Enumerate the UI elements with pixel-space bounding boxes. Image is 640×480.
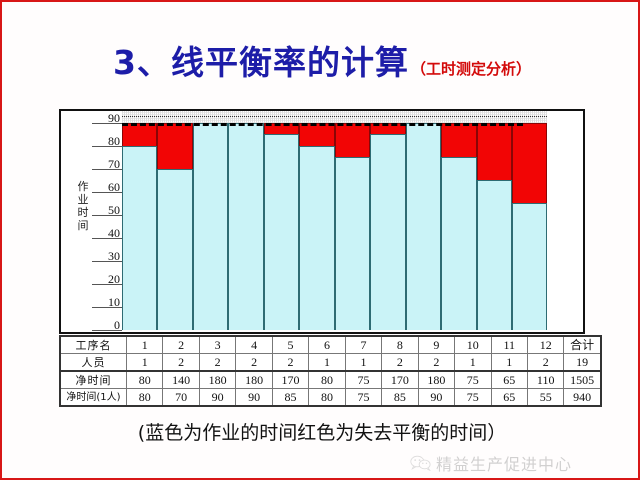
table-cell-r2-c11: 110 — [527, 371, 563, 389]
y-tick-label-60: 60 — [108, 181, 120, 193]
bar-stack-8[interactable] — [370, 123, 405, 330]
table-cell-r1-c2: 2 — [199, 354, 235, 372]
table-cell-r1-c12: 19 — [564, 354, 601, 372]
bar-segment-worktime-6[interactable] — [299, 146, 334, 330]
bar-column-12[interactable] — [512, 111, 547, 330]
page-title-subtitle: （工时测定分析） — [411, 60, 531, 78]
y-tick-70: 70 — [92, 169, 122, 171]
table-row-1: 人员12222112211219 — [60, 354, 601, 372]
table-cell-r3-c6: 75 — [345, 389, 381, 407]
bar-column-合计[interactable] — [547, 111, 582, 330]
bar-segment-imbalance-10[interactable] — [441, 123, 476, 158]
bar-column-6[interactable] — [299, 111, 334, 330]
takt-dashed-reference-line — [122, 123, 523, 126]
y-tick-label-40: 40 — [108, 227, 120, 239]
y-tick-label-70: 70 — [108, 158, 120, 170]
table-cell-r1-c7: 2 — [382, 354, 418, 372]
table-row-header-2: 净时间 — [60, 371, 127, 389]
bar-segment-worktime-4[interactable] — [228, 123, 263, 330]
table-cell-r2-c7: 170 — [382, 371, 418, 389]
table-cell-r1-c4: 2 — [272, 354, 308, 372]
table-cell-r1-c6: 1 — [345, 354, 381, 372]
table-cell-r1-c1: 2 — [163, 354, 199, 372]
table-cell-r0-c11: 12 — [527, 336, 563, 354]
bar-column-4[interactable] — [228, 111, 263, 330]
bar-segment-worktime-9[interactable] — [406, 123, 441, 330]
chart-legend-caption: (蓝色为作业的时间红色为失去平衡的时间） — [2, 418, 640, 445]
bar-segment-worktime-2[interactable] — [157, 169, 192, 330]
bar-stack-6[interactable] — [299, 123, 334, 330]
watermark-text: 精益生产促进中心 — [436, 451, 572, 475]
table-cell-r2-c0: 80 — [127, 371, 163, 389]
bar-segment-imbalance-11[interactable] — [477, 123, 512, 181]
table-cell-r2-c3: 180 — [236, 371, 272, 389]
table-cell-r2-c12: 1505 — [564, 371, 601, 389]
table-cell-r0-c12: 合计 — [564, 336, 601, 354]
bar-column-1[interactable] — [122, 111, 157, 330]
bar-column-11[interactable] — [477, 111, 512, 330]
y-axis-caption-char-0: 作 — [76, 180, 90, 193]
y-tick-90: 90 — [92, 123, 122, 125]
table-cell-r3-c2: 90 — [199, 389, 235, 407]
table-cell-r3-c5: 80 — [309, 389, 345, 407]
table-row-2: 净时间80140180180170807517018075651101505 — [60, 371, 601, 389]
process-time-table: 工序名123456789101112合计人员12222112211219净时间8… — [59, 335, 602, 407]
table-cell-r1-c3: 2 — [236, 354, 272, 372]
table-row-3: 净时间(1人)807090908580758590756555940 — [60, 389, 601, 407]
table-cell-r0-c10: 11 — [491, 336, 527, 354]
table-cell-r3-c4: 85 — [272, 389, 308, 407]
table-cell-r0-c6: 7 — [345, 336, 381, 354]
bar-segment-imbalance-1[interactable] — [122, 123, 157, 146]
y-tick-label-20: 20 — [108, 273, 120, 285]
table-cell-r2-c2: 180 — [199, 371, 235, 389]
table-row-header-3: 净时间(1人) — [60, 389, 127, 407]
table-cell-r2-c1: 140 — [163, 371, 199, 389]
y-tick-label-30: 30 — [108, 250, 120, 262]
table-cell-r0-c7: 8 — [382, 336, 418, 354]
bar-stack-2[interactable] — [157, 123, 192, 330]
table-row-header-0: 工序名 — [60, 336, 127, 354]
bar-column-3[interactable] — [193, 111, 228, 330]
bar-stack-5[interactable] — [264, 123, 299, 330]
table-cell-r3-c9: 75 — [455, 389, 491, 407]
y-tick-10: 10 — [92, 307, 122, 309]
bar-segment-imbalance-12[interactable] — [512, 123, 547, 204]
y-tick-80: 80 — [92, 146, 122, 148]
y-axis-caption-char-1: 业 — [76, 193, 90, 206]
table-cell-r3-c3: 90 — [236, 389, 272, 407]
y-tick-0: 0 — [92, 330, 122, 332]
bar-segment-imbalance-2[interactable] — [157, 123, 192, 169]
bar-segment-worktime-5[interactable] — [264, 134, 299, 330]
table-cell-r0-c8: 9 — [418, 336, 454, 354]
y-tick-label-10: 10 — [108, 296, 120, 308]
table-cell-r2-c8: 180 — [418, 371, 454, 389]
y-axis-caption-char-3: 间 — [76, 219, 90, 232]
table-cell-r2-c4: 170 — [272, 371, 308, 389]
table-cell-r3-c12: 940 — [564, 389, 601, 407]
y-axis-ticks: 9080706050403020100 — [92, 109, 122, 330]
bar-column-10[interactable] — [441, 111, 476, 330]
bar-segment-worktime-11[interactable] — [477, 180, 512, 330]
bar-column-9[interactable] — [406, 111, 441, 330]
wechat-icon — [410, 455, 432, 471]
table-cell-r2-c6: 75 — [345, 371, 381, 389]
table-cell-r1-c10: 1 — [491, 354, 527, 372]
bar-series-container — [122, 111, 583, 330]
bar-stack-10[interactable] — [441, 123, 476, 330]
table-row-header-1: 人员 — [60, 354, 127, 372]
table-cell-r2-c9: 75 — [455, 371, 491, 389]
table-cell-r3-c10: 65 — [491, 389, 527, 407]
table-cell-r0-c1: 2 — [163, 336, 199, 354]
table-cell-r0-c5: 6 — [309, 336, 345, 354]
table-row-0: 工序名123456789101112合计 — [60, 336, 601, 354]
bar-segment-imbalance-7[interactable] — [335, 123, 370, 158]
y-tick-40: 40 — [92, 238, 122, 240]
bar-stack-7[interactable] — [335, 123, 370, 330]
bar-segment-worktime-8[interactable] — [370, 134, 405, 330]
y-tick-label-80: 80 — [108, 135, 120, 147]
table-cell-r0-c0: 1 — [127, 336, 163, 354]
bar-column-8[interactable] — [370, 111, 405, 330]
table-cell-r3-c7: 85 — [382, 389, 418, 407]
bar-column-2[interactable] — [157, 111, 192, 330]
page-title: 3、线平衡率的计算（工时测定分析） — [2, 36, 640, 84]
table-cell-r3-c0: 80 — [127, 389, 163, 407]
y-axis-caption: 作业时间 — [76, 180, 90, 232]
table-cell-r3-c8: 90 — [418, 389, 454, 407]
bar-segment-worktime-10[interactable] — [441, 157, 476, 330]
table-cell-r2-c10: 65 — [491, 371, 527, 389]
y-axis-caption-char-2: 时 — [76, 206, 90, 219]
bar-stack-11[interactable] — [477, 123, 512, 330]
table-cell-r1-c5: 1 — [309, 354, 345, 372]
y-tick-50: 50 — [92, 215, 122, 217]
table-body: 工序名123456789101112合计人员12222112211219净时间8… — [60, 336, 601, 406]
table-cell-r1-c9: 1 — [455, 354, 491, 372]
chart-plot-area — [122, 111, 583, 330]
bar-segment-imbalance-6[interactable] — [299, 123, 334, 146]
table-cell-r0-c4: 5 — [272, 336, 308, 354]
y-tick-label-50: 50 — [108, 204, 120, 216]
table-cell-r0-c2: 3 — [199, 336, 235, 354]
table-cell-r3-c11: 55 — [527, 389, 563, 407]
bar-column-5[interactable] — [264, 111, 299, 330]
bar-stack-12[interactable] — [512, 123, 547, 330]
table-cell-r1-c8: 2 — [418, 354, 454, 372]
bar-segment-worktime-12[interactable] — [512, 203, 547, 330]
table-cell-r0-c3: 4 — [236, 336, 272, 354]
bar-stack-3[interactable] — [193, 123, 228, 330]
table-cell-r2-c5: 80 — [309, 371, 345, 389]
watermark: 精益生产促进中心 — [410, 451, 572, 475]
y-tick-label-90: 90 — [108, 112, 120, 124]
slide-canvas: 3、线平衡率的计算（工时测定分析） 作业时间 90807060504030201… — [0, 0, 640, 480]
bar-segment-worktime-3[interactable] — [193, 123, 228, 330]
y-tick-60: 60 — [92, 192, 122, 194]
y-tick-30: 30 — [92, 261, 122, 263]
y-tick-label-0: 0 — [114, 319, 120, 331]
page-title-main: 3、线平衡率的计算 — [113, 43, 409, 82]
table-cell-r1-c0: 1 — [127, 354, 163, 372]
bar-column-7[interactable] — [335, 111, 370, 330]
bar-stack-1[interactable] — [122, 123, 157, 330]
table-cell-r0-c9: 10 — [455, 336, 491, 354]
bar-segment-worktime-1[interactable] — [122, 146, 157, 330]
bar-stack-9[interactable] — [406, 123, 441, 330]
bar-segment-worktime-7[interactable] — [335, 157, 370, 330]
bar-stack-4[interactable] — [228, 123, 263, 330]
table-cell-r1-c11: 2 — [527, 354, 563, 372]
table-cell-r3-c1: 70 — [163, 389, 199, 407]
y-tick-20: 20 — [92, 284, 122, 286]
